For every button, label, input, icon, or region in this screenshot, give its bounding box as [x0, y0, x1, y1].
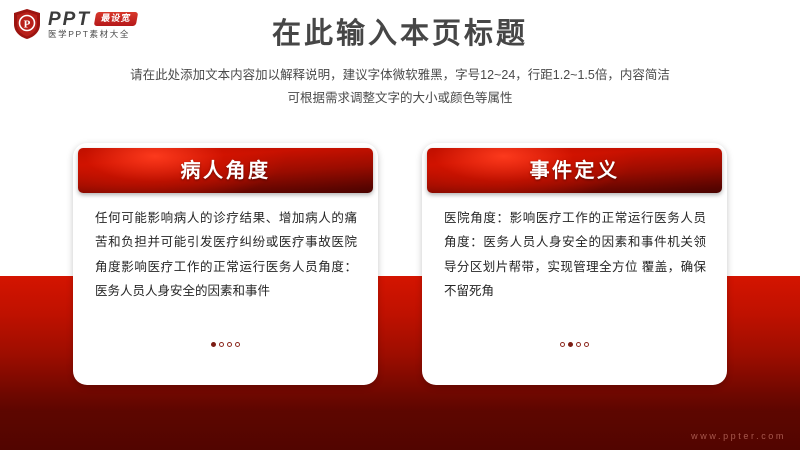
card-body-text: 任何可能影响病人的诊疗结果、增加病人的痛苦和负担并可能引发医疗纠纷或医疗事故医院… — [95, 206, 357, 304]
dot-indicator[interactable] — [211, 342, 216, 347]
dot-indicator[interactable] — [227, 342, 232, 347]
dot-indicator[interactable] — [576, 342, 581, 347]
page-subtitle-line-2: 可根据需求调整文字的大小或颜色等属性 — [0, 87, 800, 110]
dot-indicator[interactable] — [235, 342, 240, 347]
dot-indicator[interactable] — [584, 342, 589, 347]
dot-indicator[interactable] — [560, 342, 565, 347]
content-card-patient[interactable]: 病人角度 任何可能影响病人的诊疗结果、增加病人的痛苦和负担并可能引发医疗纠纷或医… — [73, 143, 378, 385]
card-dot-indicators[interactable] — [73, 342, 378, 347]
dot-indicator[interactable] — [219, 342, 224, 347]
card-dot-indicators[interactable] — [422, 342, 727, 347]
slide-canvas: P PPT 最设宽 医学PPT素材大全 在此输入本页标题 请在此处添加文本内容加… — [0, 0, 800, 450]
card-header-banner: 事件定义 — [427, 148, 722, 193]
footer-url: www.ppter.com — [691, 432, 786, 441]
dot-indicator[interactable] — [568, 342, 573, 347]
card-header-banner: 病人角度 — [78, 148, 373, 193]
content-card-event[interactable]: 事件定义 医院角度：影响医疗工作的正常运行医务人员角度：医务人员人身安全的因素和… — [422, 143, 727, 385]
card-title: 病人角度 — [181, 161, 271, 181]
card-title: 事件定义 — [530, 161, 620, 181]
page-subtitle-line-1: 请在此处添加文本内容加以解释说明，建议字体微软雅黑，字号12~24，行距1.2~… — [0, 64, 800, 87]
page-title: 在此输入本页标题 — [0, 16, 800, 52]
card-body-text: 医院角度：影响医疗工作的正常运行医务人员角度：医务人员人身安全的因素和事件机关领… — [444, 206, 706, 304]
footer-band: www.ppter.com — [0, 412, 800, 450]
page-subtitle: 请在此处添加文本内容加以解释说明，建议字体微软雅黑，字号12~24，行距1.2~… — [0, 64, 800, 110]
